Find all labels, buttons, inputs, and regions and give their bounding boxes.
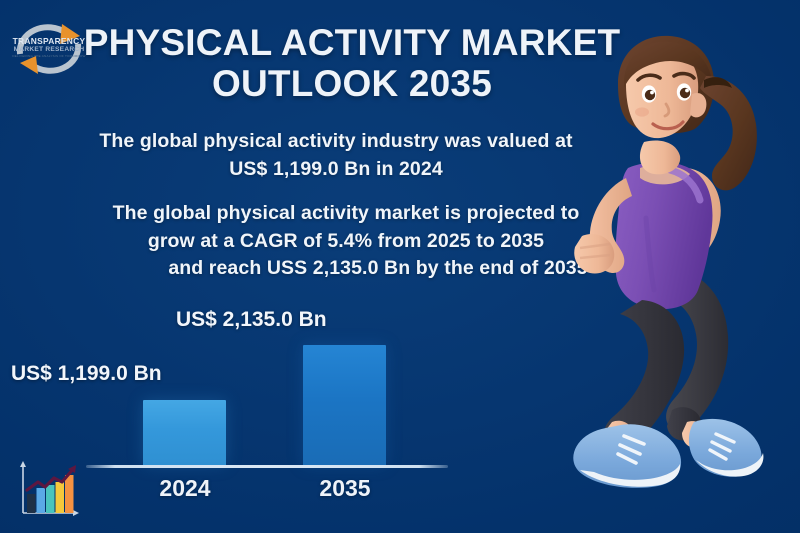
growth-bar-chart-icon — [12, 458, 82, 522]
runner-shoe-front — [573, 424, 681, 488]
runner-neck — [640, 141, 680, 175]
statement-valuation-line-2: US$ 1,199.0 Bn in 2024 — [229, 158, 443, 180]
bar-value-label-2024: US$ 1,199.0 Bn — [11, 362, 162, 386]
bar-value-label-2035: US$ 2,135.0 Bn — [176, 308, 327, 332]
bar-2024 — [143, 400, 226, 465]
infographic-canvas: TRANSPARENCY MARKET RESEARCH DELIVERING … — [0, 0, 800, 533]
brand-logo: TRANSPARENCY MARKET RESEARCH DELIVERING … — [6, 18, 92, 80]
bar-chart: US$ 1,199.0 Bn US$ 2,135.0 Bn 2024 2035 — [86, 300, 458, 510]
runner-torso — [615, 162, 712, 309]
runner-shoe-back — [689, 419, 764, 477]
axis-tick-2035: 2035 — [290, 475, 400, 502]
statement-forecast-line-1: The global physical activity market is p… — [113, 202, 580, 224]
axis-tick-2024: 2024 — [130, 475, 240, 502]
logo-circular-arrows-icon — [6, 18, 92, 80]
statement-forecast-line-2: grow at a CAGR of 5.4% from 2025 to 2035 — [148, 230, 544, 252]
runner-illustration — [520, 18, 800, 533]
runner-front-leg — [573, 300, 684, 488]
chart-baseline-axis — [86, 465, 448, 468]
bar-2035 — [303, 345, 386, 465]
statement-valuation-line-1: The global physical activity industry wa… — [99, 130, 572, 152]
